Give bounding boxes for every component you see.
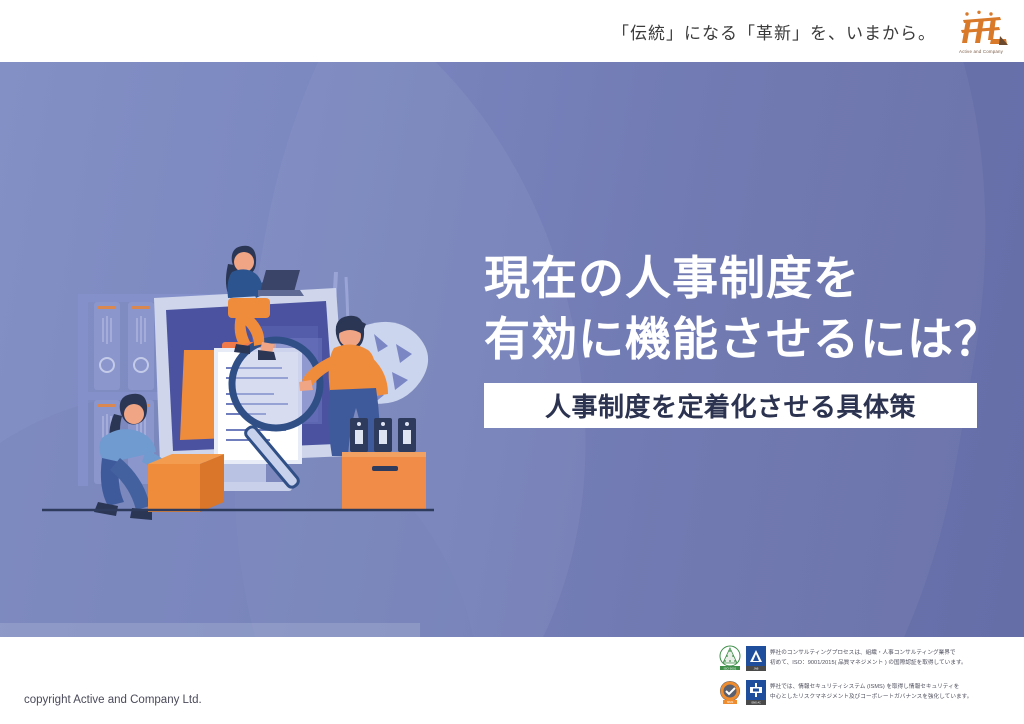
- certification-badges: ISMS ISMS-AC: [718, 679, 770, 706]
- isms-accreditation-badge: ISMS: [718, 679, 742, 706]
- certification-line: 弊社のコンサルティングプロセスは、組織・人事コンサルティング業界で: [770, 649, 967, 658]
- title-line-1: 現在の人事制度を: [484, 248, 984, 309]
- logo-caption: Active and Company: [950, 49, 1012, 54]
- title-block: 現在の人事制度を 有効に機能させるには？ 人事制度を定着化させる具体策: [484, 248, 984, 428]
- cabinet-with-binders: [342, 418, 426, 510]
- panel-foot-strip: [0, 623, 420, 637]
- slide-body: 現在の人事制度を 有効に機能させるには？ 人事制度を定着化させる具体策: [0, 62, 1024, 637]
- svg-text:ISMS-AC: ISMS-AC: [751, 702, 761, 705]
- subtitle-text: 人事制度を定着化させる具体策: [545, 387, 916, 424]
- jab-ms-registration-badge: JAB: [744, 645, 768, 672]
- isms-registration-badge: ISMS-AC: [744, 679, 768, 706]
- certification-text-isms: 弊社では、情報セキュリティシステム (ISMS) を取得し情報セキュリティを 中…: [770, 683, 972, 701]
- certification-text-iso9001: 弊社のコンサルティングプロセスは、組織・人事コンサルティング業界で 初めて、IS…: [770, 649, 967, 667]
- svg-text:JAB: JAB: [754, 667, 759, 671]
- svg-text:ISMS: ISMS: [727, 700, 734, 704]
- active-and-company-logo: Active and Company: [950, 9, 1012, 53]
- certification-line: 弊社では、情報セキュリティシステム (ISMS) を取得し情報セキュリティを: [770, 683, 972, 692]
- page-footer: copyright Active and Company Ltd. ISO 90…: [0, 637, 1024, 724]
- certification-badges: ISO 9001 JAB: [718, 645, 770, 672]
- certification-row-iso9001: ISO 9001 JAB 弊社のコンサルティングプロセスは、組織・人事コンサルテ…: [718, 645, 1018, 672]
- svg-text:ISO 9001: ISO 9001: [724, 666, 737, 670]
- orange-box-front: [148, 454, 224, 512]
- page-header: 「伝統」になる「革新」を、いまから。 Active and Company: [0, 0, 1024, 62]
- copyright-text: copyright Active and Company Ltd.: [24, 694, 202, 706]
- jab-iso-9001-accreditation-badge: ISO 9001: [718, 645, 742, 672]
- document-review-illustration: [36, 202, 456, 522]
- certification-line: 中心としたリスクマネジメント及びコーポレートガバナンスを強化しています。: [770, 693, 972, 702]
- certification-line: 初めて、ISO：9001/2015( 品質マネジメント ) の国際認証を取得して…: [770, 659, 967, 668]
- brand-tagline: 「伝統」になる「革新」を、いまから。: [612, 19, 936, 44]
- title-line-2: 有効に機能させるには？: [484, 309, 984, 370]
- certification-area: ISO 9001 JAB 弊社のコンサルティングプロセスは、組織・人事コンサルテ…: [718, 645, 1018, 713]
- certification-row-isms: ISMS ISMS-AC: [718, 679, 1018, 706]
- subtitle-box: 人事制度を定着化させる具体策: [484, 383, 977, 428]
